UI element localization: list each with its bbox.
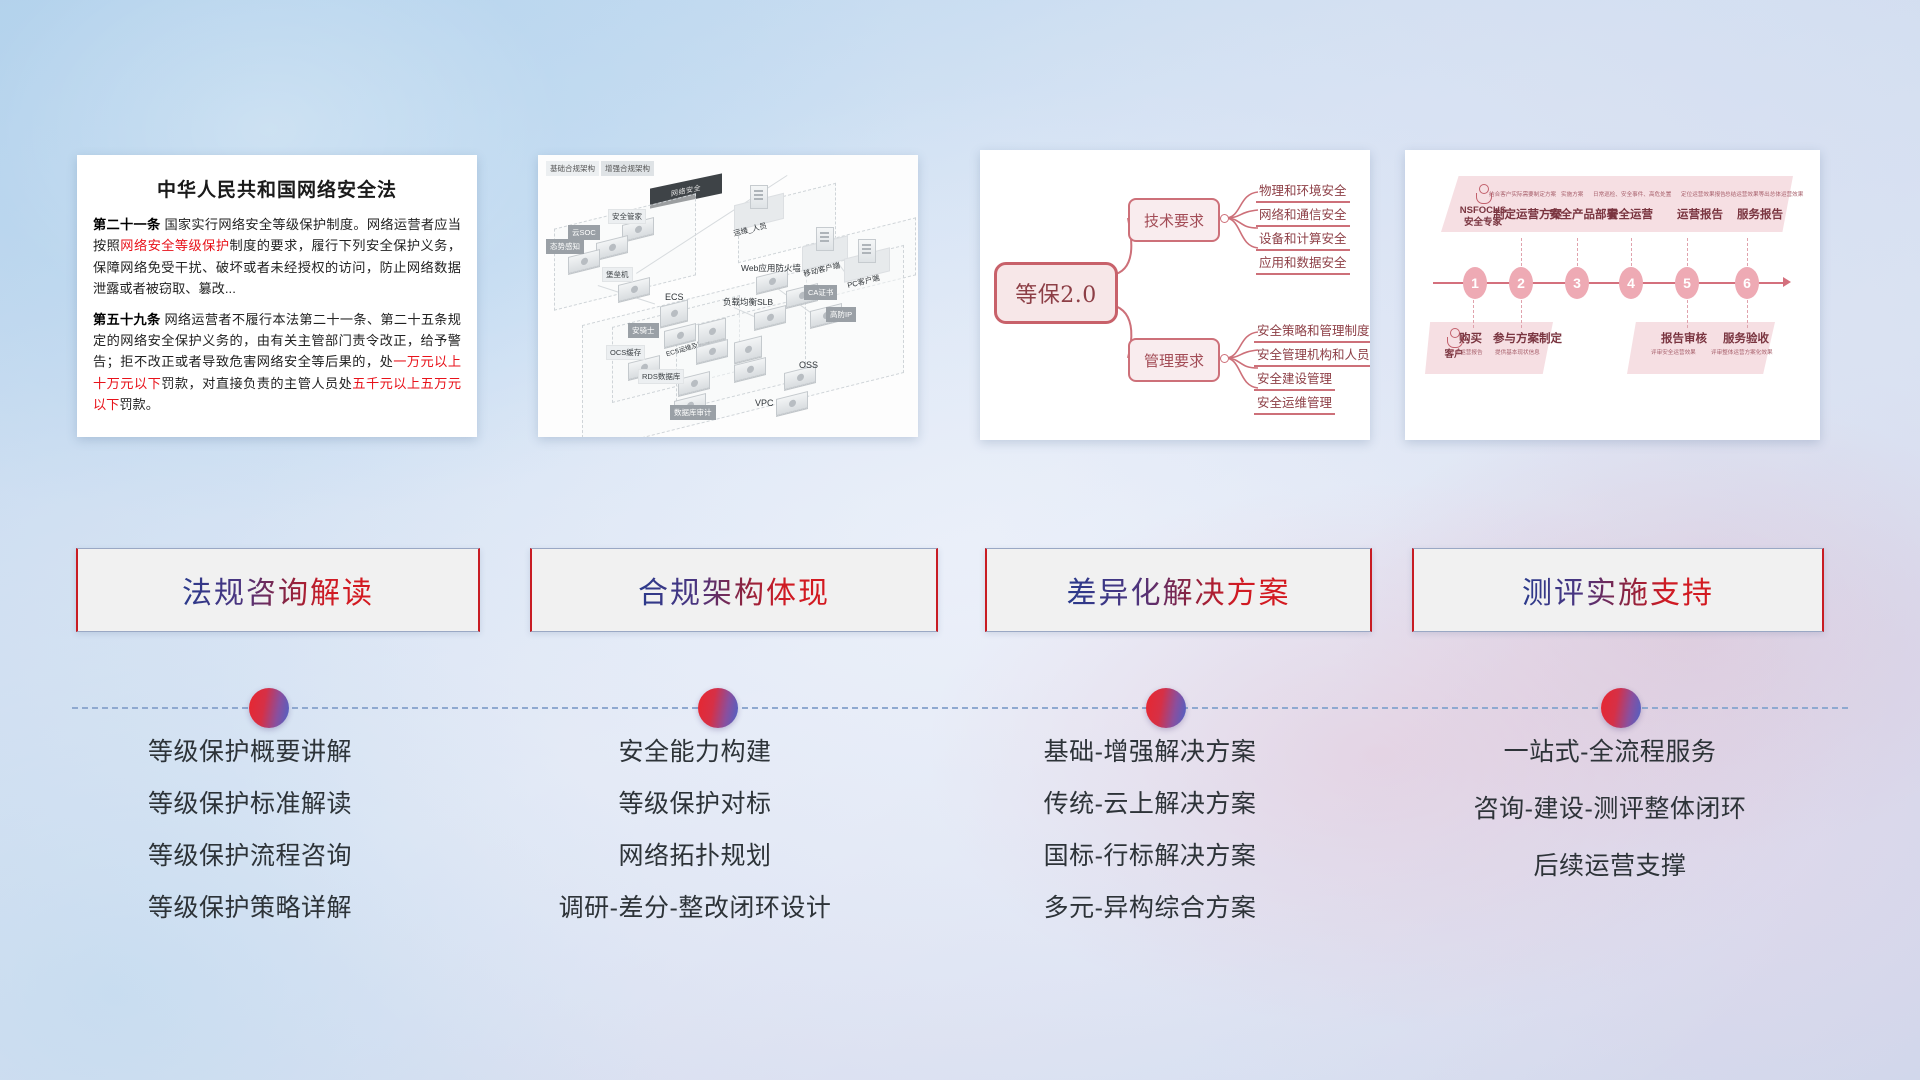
section-title-label-1: 法规咨询解读 xyxy=(182,568,374,612)
milestone-dot-2[interactable] xyxy=(698,688,738,728)
detail-column-row: 等级保护概要讲解 等级保护标准解读 等级保护流程咨询 等级保护策略详解 安全能力… xyxy=(0,740,1920,940)
section-title-box-4[interactable]: 测评实施支持 xyxy=(1412,548,1824,632)
diagram-tabs: 基础合规架构 增强合规架构 xyxy=(546,161,654,176)
list-item: 多元-异构综合方案 xyxy=(935,896,1365,921)
list-item: 后续运营支撑 xyxy=(1390,854,1830,879)
list-item: 国标-行标解决方案 xyxy=(935,844,1365,869)
list-item: 传统-云上解决方案 xyxy=(935,792,1365,817)
list-item: 等级保护策略详解 xyxy=(40,896,460,921)
section-title-box-1[interactable]: 法规咨询解读 xyxy=(76,548,480,632)
section-title-label-3: 差异化解决方案 xyxy=(1067,568,1291,612)
list-item: 基础-增强解决方案 xyxy=(935,740,1365,765)
milestone-dot-4[interactable] xyxy=(1601,688,1641,728)
section-title-box-2[interactable]: 合规架构体现 xyxy=(530,548,938,632)
list-item: 调研-差分-整改闭环设计 xyxy=(480,896,910,921)
detail-column-3: 基础-增强解决方案 传统-云上解决方案 国标-行标解决方案 多元-异构综合方案 xyxy=(935,740,1365,948)
detail-column-1: 等级保护概要讲解 等级保护标准解读 等级保护流程咨询 等级保护策略详解 xyxy=(40,740,460,948)
list-item: 一站式-全流程服务 xyxy=(1390,740,1830,765)
list-item: 等级保护流程咨询 xyxy=(40,844,460,869)
list-item: 等级保护标准解读 xyxy=(40,792,460,817)
section-title-label-2: 合规架构体现 xyxy=(638,568,830,612)
list-item: 安全能力构建 xyxy=(480,740,910,765)
detail-column-2: 安全能力构建 等级保护对标 网络拓扑规划 调研-差分-整改闭环设计 xyxy=(480,740,910,948)
list-item: 咨询-建设-测评整体闭环 xyxy=(1390,797,1830,822)
milestone-strip xyxy=(0,688,1920,728)
milestone-dot-3[interactable] xyxy=(1146,688,1186,728)
detail-column-4: 一站式-全流程服务 咨询-建设-测评整体闭环 后续运营支撑 xyxy=(1390,740,1830,911)
list-item: 等级保护对标 xyxy=(480,792,910,817)
list-item: 等级保护概要讲解 xyxy=(40,740,460,765)
tab-basic-architecture[interactable]: 基础合规架构 xyxy=(546,161,599,176)
milestone-dashed-line xyxy=(72,707,1848,709)
milestone-dot-1[interactable] xyxy=(249,688,289,728)
section-title-label-4: 测评实施支持 xyxy=(1522,568,1714,612)
tab-enhanced-architecture[interactable]: 增强合规架构 xyxy=(601,161,654,176)
section-title-box-3[interactable]: 差异化解决方案 xyxy=(985,548,1372,632)
list-item: 网络拓扑规划 xyxy=(480,844,910,869)
